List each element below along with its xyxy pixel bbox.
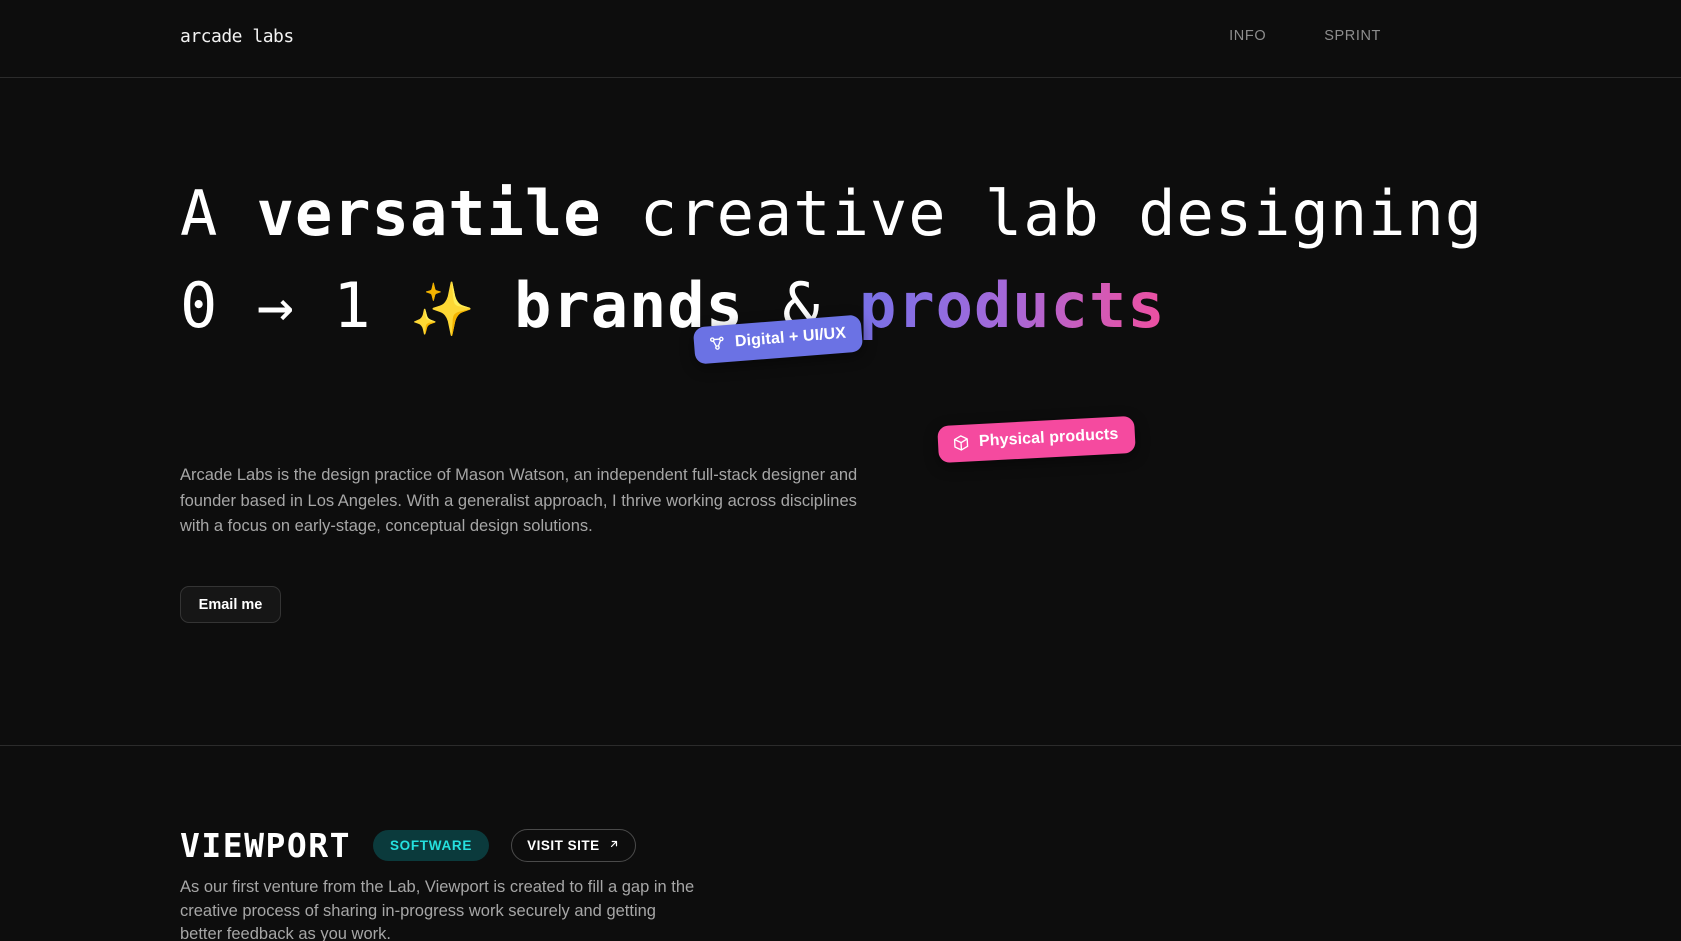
site-header: arcade labs INFO SPRINT CONTACT	[0, 0, 1681, 78]
main-nav: INFO SPRINT	[1229, 28, 1381, 44]
badge-physical-products[interactable]: Physical products	[937, 416, 1135, 463]
email-me-button[interactable]: Email me	[180, 586, 281, 623]
headline-text-versatile: versatile	[257, 177, 602, 250]
viewport-paragraph: As our first venture from the Lab, Viewp…	[180, 876, 700, 941]
headline-text-creative-lab: creative lab designing	[602, 177, 1484, 250]
headline-line-1: A versatile creative lab designing	[180, 168, 1300, 260]
viewport-tag-software: SOFTWARE	[373, 830, 489, 861]
viewport-header-row: VIEWPORT SOFTWARE VISIT SITE	[180, 826, 636, 865]
viewport-title: VIEWPORT	[180, 826, 351, 865]
hero-paragraph: Arcade Labs is the design practice of Ma…	[180, 463, 860, 540]
hero-section: A versatile creative lab designing 0 → 1…	[0, 78, 1681, 745]
headline-text-products: products	[821, 269, 1166, 342]
headline-text-zero-to-one: 0 → 1	[180, 269, 410, 342]
arrow-up-right-icon	[608, 838, 620, 853]
viewport-section: VIEWPORT SOFTWARE VISIT SITE As our firs…	[0, 745, 1681, 941]
visit-site-button[interactable]: VISIT SITE	[511, 829, 636, 862]
visit-site-label: VISIT SITE	[527, 838, 600, 853]
cube-icon	[952, 433, 971, 452]
nav-item-info[interactable]: INFO	[1229, 28, 1266, 44]
sparkle-icon: ✨	[410, 280, 476, 340]
badge-digital-label: Digital + UI/UX	[734, 325, 846, 352]
headline-text-a: A	[180, 177, 257, 250]
vector-node-icon	[707, 334, 726, 353]
logo[interactable]: arcade labs	[180, 26, 294, 47]
nav-item-sprint[interactable]: SPRINT	[1324, 28, 1381, 44]
badge-physical-label: Physical products	[979, 426, 1119, 451]
